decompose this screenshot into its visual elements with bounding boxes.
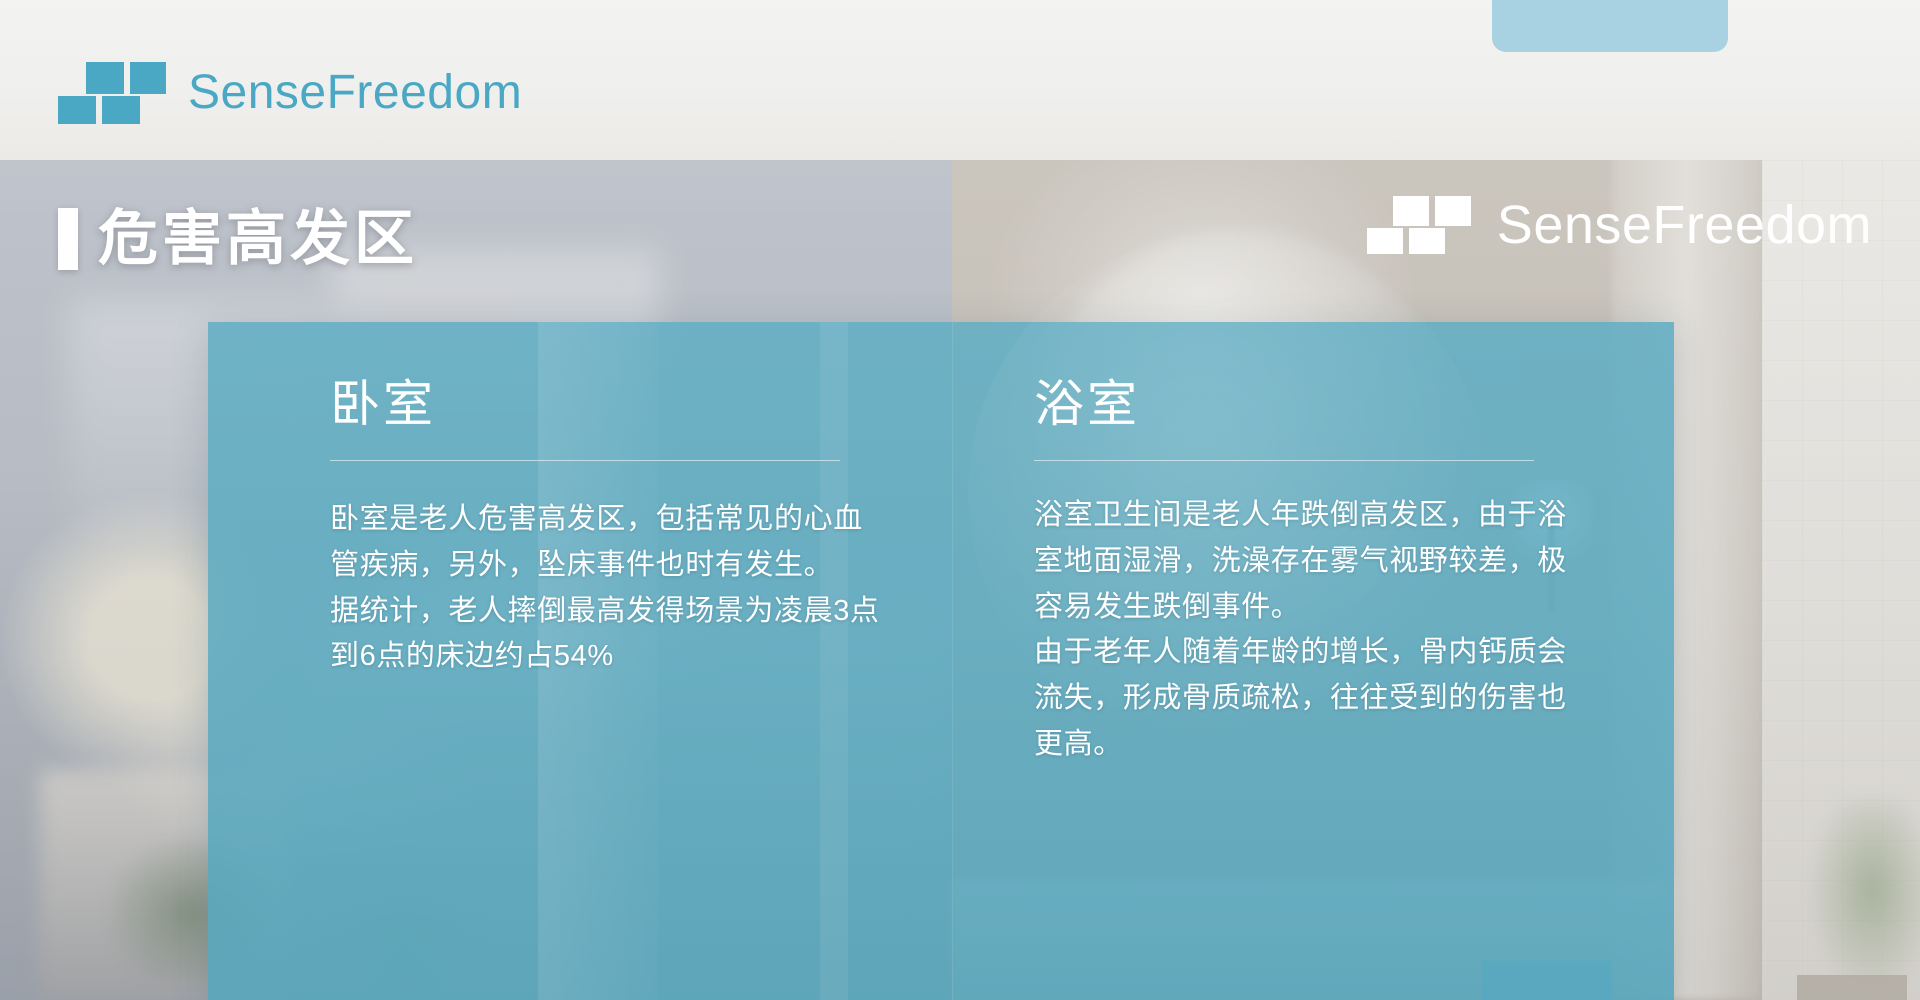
card-bedroom-title: 卧室 [330,377,880,432]
checkerboard-logo-icon [58,62,166,124]
header-brand-wordmark: SenseFreedom [188,69,522,117]
card-bathroom: 浴室 浴室卫生间是老人年跌倒高发区，由于浴室地面湿滑，洗澡存在雾气视野较差，极容… [952,322,1674,1000]
watermark-logo: SenseFreedom [1367,196,1872,254]
page-title-text: 危害高发区 [98,209,418,269]
watermark-brand-wordmark: SenseFreedom [1497,198,1872,252]
card-bathroom-divider [1034,460,1534,461]
checkerboard-logo-icon [1367,196,1471,254]
content-panel: 卧室 卧室是老人危害高发区，包括常见的心血管疾病，另外，坠床事件也时有发生。 据… [208,322,1674,1000]
card-bedroom: 卧室 卧室是老人危害高发区，包括常见的心血管疾病，另外，坠床事件也时有发生。 据… [208,322,952,1000]
card-bathroom-title: 浴室 [1034,377,1584,432]
card-bathroom-paragraph-1: 浴室卫生间是老人年跌倒高发区，由于浴室地面湿滑，洗澡存在雾气视野较差，极容易发生… [1034,493,1584,630]
page-title: 危害高发区 [58,208,418,270]
card-bedroom-paragraph-1: 卧室是老人危害高发区，包括常见的心血管疾病，另外，坠床事件也时有发生。 [330,497,880,589]
card-bathroom-body: 浴室卫生间是老人年跌倒高发区，由于浴室地面湿滑，洗澡存在雾气视野较差，极容易发生… [1034,493,1584,768]
card-bathroom-paragraph-2: 由于老年人随着年龄的增长，骨内钙质会流失，形成骨质疏松，往往受到的伤害也更高。 [1034,630,1584,767]
bathroom-grey-accent-block [1797,975,1907,1000]
card-bedroom-divider [330,460,840,461]
header-logo[interactable]: SenseFreedom [58,62,522,124]
top-right-blue-chip [1492,0,1728,52]
bathroom-plant [1807,800,1920,1000]
card-bedroom-paragraph-2: 据统计，老人摔倒最高发得场景为凌晨3点到6点的床边约占54% [330,589,880,681]
title-accent-bar [58,208,78,270]
card-bedroom-body: 卧室是老人危害高发区，包括常见的心血管疾病，另外，坠床事件也时有发生。 据统计，… [330,497,880,680]
slide-canvas: SenseFreedom 危害高发区 SenseFreedom 卧室 卧室是老人… [0,0,1920,1000]
